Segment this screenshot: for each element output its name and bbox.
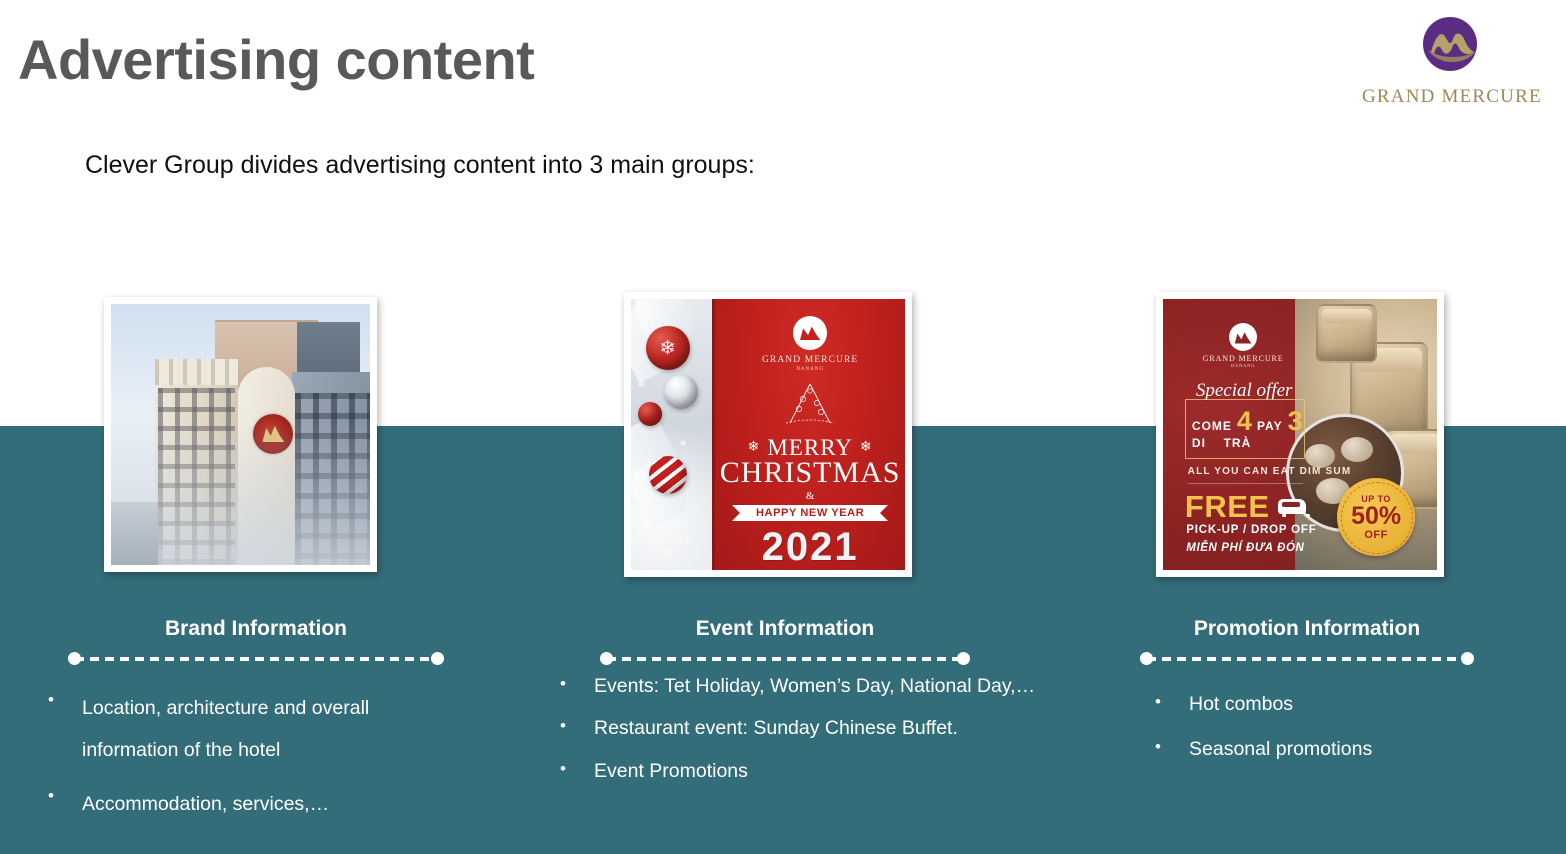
roof-fins: [155, 359, 238, 385]
all-you-can-eat-text: ALL YOU CAN EAT DIM SUM: [1188, 466, 1352, 477]
poster-brand: GRAND MERCURE: [1193, 354, 1293, 363]
column-heading-promotion: Promotion Information: [1140, 617, 1474, 641]
list-item-text: Location, architecture and overall infor…: [82, 688, 468, 772]
bullet-icon: •: [48, 688, 82, 713]
divider-dot-right: [957, 652, 970, 665]
bullet-icon: •: [48, 784, 82, 809]
grand-mercure-logo: GRAND MERCURE: [1362, 14, 1538, 110]
snowflake-icon: ❄: [680, 440, 687, 448]
divider-dot-right: [1461, 652, 1474, 665]
promo-divider: [1188, 483, 1303, 484]
promo-poster-artwork: GRAND MERCURE DANANG Special offer COME …: [1163, 299, 1437, 570]
dim-sum-piece: [1341, 437, 1373, 462]
offer-row-vietnamese: DI 4 TRÀ: [1192, 436, 1305, 450]
bullet-icon: •: [560, 714, 594, 739]
list-item: • Hot combos: [1155, 690, 1525, 718]
bullet-list-promotion: • Hot combos • Seasonal promotions: [1155, 690, 1525, 781]
divider-dot-left: [600, 652, 613, 665]
grand-mercure-m-monogram-icon: [1418, 14, 1482, 78]
snowflake-icon: ❄: [860, 439, 873, 456]
slide-subtitle: Clever Group divides advertising content…: [85, 151, 755, 180]
hotel-photo-artwork: [111, 304, 370, 565]
promotion-image-card[interactable]: GRAND MERCURE DANANG Special offer COME …: [1156, 292, 1444, 577]
divider-dot-left: [68, 652, 81, 665]
divider-event: [600, 652, 970, 666]
grand-mercure-mark-icon: [1229, 323, 1257, 351]
column-heading-event: Event Information: [600, 617, 970, 641]
divider-dot-right: [431, 652, 444, 665]
pay-number: 3: [1288, 408, 1303, 435]
snowflake-icon: ❄: [665, 548, 674, 559]
snowflake-icon: ❄: [638, 380, 646, 389]
slide-canvas: Advertising content Clever Group divides…: [0, 0, 1566, 854]
christmas-poster-artwork: ❄ ❄ ❄ ❄ ❄ ❄ GRAND MERCURE DANANG: [631, 299, 905, 570]
bullet-icon: •: [1155, 690, 1189, 715]
bullet-icon: •: [560, 672, 594, 697]
poster-brand-logo: GRAND MERCURE DANANG: [1193, 323, 1293, 368]
list-item: • Location, architecture and overall inf…: [48, 688, 468, 772]
brand-image-card[interactable]: [104, 297, 377, 572]
dim-sum-promotion-poster: GRAND MERCURE DANANG Special offer COME …: [1163, 299, 1437, 570]
christmas-message-panel: GRAND MERCURE DANANG: [715, 299, 905, 570]
offer-row-english: COME 4 PAY 3: [1192, 408, 1305, 435]
snowflake-icon: ❄: [685, 537, 691, 544]
christmas-text: CHRISTMAS: [720, 459, 901, 488]
come-label: COME: [1192, 419, 1232, 433]
poster-brand-city: DANANG: [1193, 363, 1293, 368]
happy-new-year-banner: HAPPY NEW YEAR: [740, 505, 880, 521]
list-item: • Events: Tet Holiday, Women’s Day, Nati…: [560, 672, 1050, 700]
mien-phi-dua-don-text: MIỄN PHÍ ĐƯA ĐÓN: [1186, 542, 1304, 554]
list-item: • Accommodation, services,…: [48, 784, 468, 826]
divider-brand: [68, 652, 444, 666]
list-item-text: Restaurant event: Sunday Chinese Buffet.: [594, 714, 1050, 742]
bamboo-steamer: [1316, 304, 1377, 362]
discount-badge: UP TO 50% OFF: [1337, 478, 1415, 556]
shuttle-van-icon: [1278, 499, 1306, 514]
bullet-list-brand: • Location, architecture and overall inf…: [48, 688, 468, 838]
divider-dash: [1147, 657, 1467, 661]
list-item-text: Hot combos: [1189, 690, 1525, 718]
merry-christmas-poster: ❄ ❄ ❄ ❄ ❄ ❄ GRAND MERCURE DANANG: [631, 299, 905, 570]
bullet-list-event: • Events: Tet Holiday, Women’s Day, Nati…: [560, 672, 1050, 799]
pay-label: PAY: [1257, 419, 1283, 433]
di-label: DI: [1192, 436, 1206, 450]
ampersand: &: [806, 490, 815, 502]
list-item-text: Accommodation, services,…: [82, 784, 468, 826]
list-item-text: Seasonal promotions: [1189, 735, 1525, 763]
red-bauble: ❄: [646, 326, 690, 370]
list-item: • Restaurant event: Sunday Chinese Buffe…: [560, 714, 1050, 742]
snowflake-icon: ❄: [659, 336, 676, 361]
ornament-panel: ❄ ❄ ❄ ❄ ❄ ❄: [631, 299, 715, 570]
divider-promotion: [1140, 652, 1474, 666]
year-text: 2021: [762, 525, 859, 570]
divider-dash: [607, 657, 963, 661]
steamer-lid: [1322, 309, 1372, 323]
divider-dash: [75, 657, 437, 661]
grand-mercure-mark-icon: [793, 316, 827, 349]
come-number: 4: [1237, 408, 1252, 435]
badge-ring: [1341, 482, 1413, 554]
hotel-building-photo: [111, 304, 370, 565]
bullet-icon: •: [1155, 735, 1189, 760]
silver-bauble: [664, 375, 698, 409]
snowflake-icon: ❄: [748, 439, 761, 456]
list-item-text: Event Promotions: [594, 757, 1050, 785]
free-text: FREE: [1185, 491, 1270, 522]
list-item-text: Events: Tet Holiday, Women’s Day, Nation…: [594, 672, 1050, 700]
striped-bauble: [649, 456, 687, 494]
list-item: • Event Promotions: [560, 757, 1050, 785]
tra-label: TRÀ: [1224, 436, 1252, 450]
ground-haze: [111, 502, 158, 565]
poster-brand: GRAND MERCURE: [762, 355, 858, 365]
brand-wordmark: GRAND MERCURE: [1362, 86, 1538, 108]
event-image-card[interactable]: ❄ ❄ ❄ ❄ ❄ ❄ GRAND MERCURE DANANG: [624, 292, 912, 577]
pickup-dropoff-text: PICK-UP / DROP OFF: [1186, 524, 1316, 536]
poster-brand-city: DANANG: [796, 367, 824, 372]
red-bauble-small: [638, 402, 662, 426]
offer-box: COME 4 PAY 3 DI 4 TRÀ: [1185, 399, 1306, 459]
column-heading-brand: Brand Information: [68, 617, 444, 641]
dim-sum-piece: [1305, 444, 1335, 468]
snowflake-icon: ❄: [642, 521, 650, 531]
christmas-tree-line-icon: [774, 381, 846, 433]
page-title: Advertising content: [18, 27, 534, 92]
bullet-icon: •: [560, 757, 594, 782]
free-row: FREE: [1185, 491, 1306, 522]
divider-dot-left: [1140, 652, 1153, 665]
list-item: • Seasonal promotions: [1155, 735, 1525, 763]
